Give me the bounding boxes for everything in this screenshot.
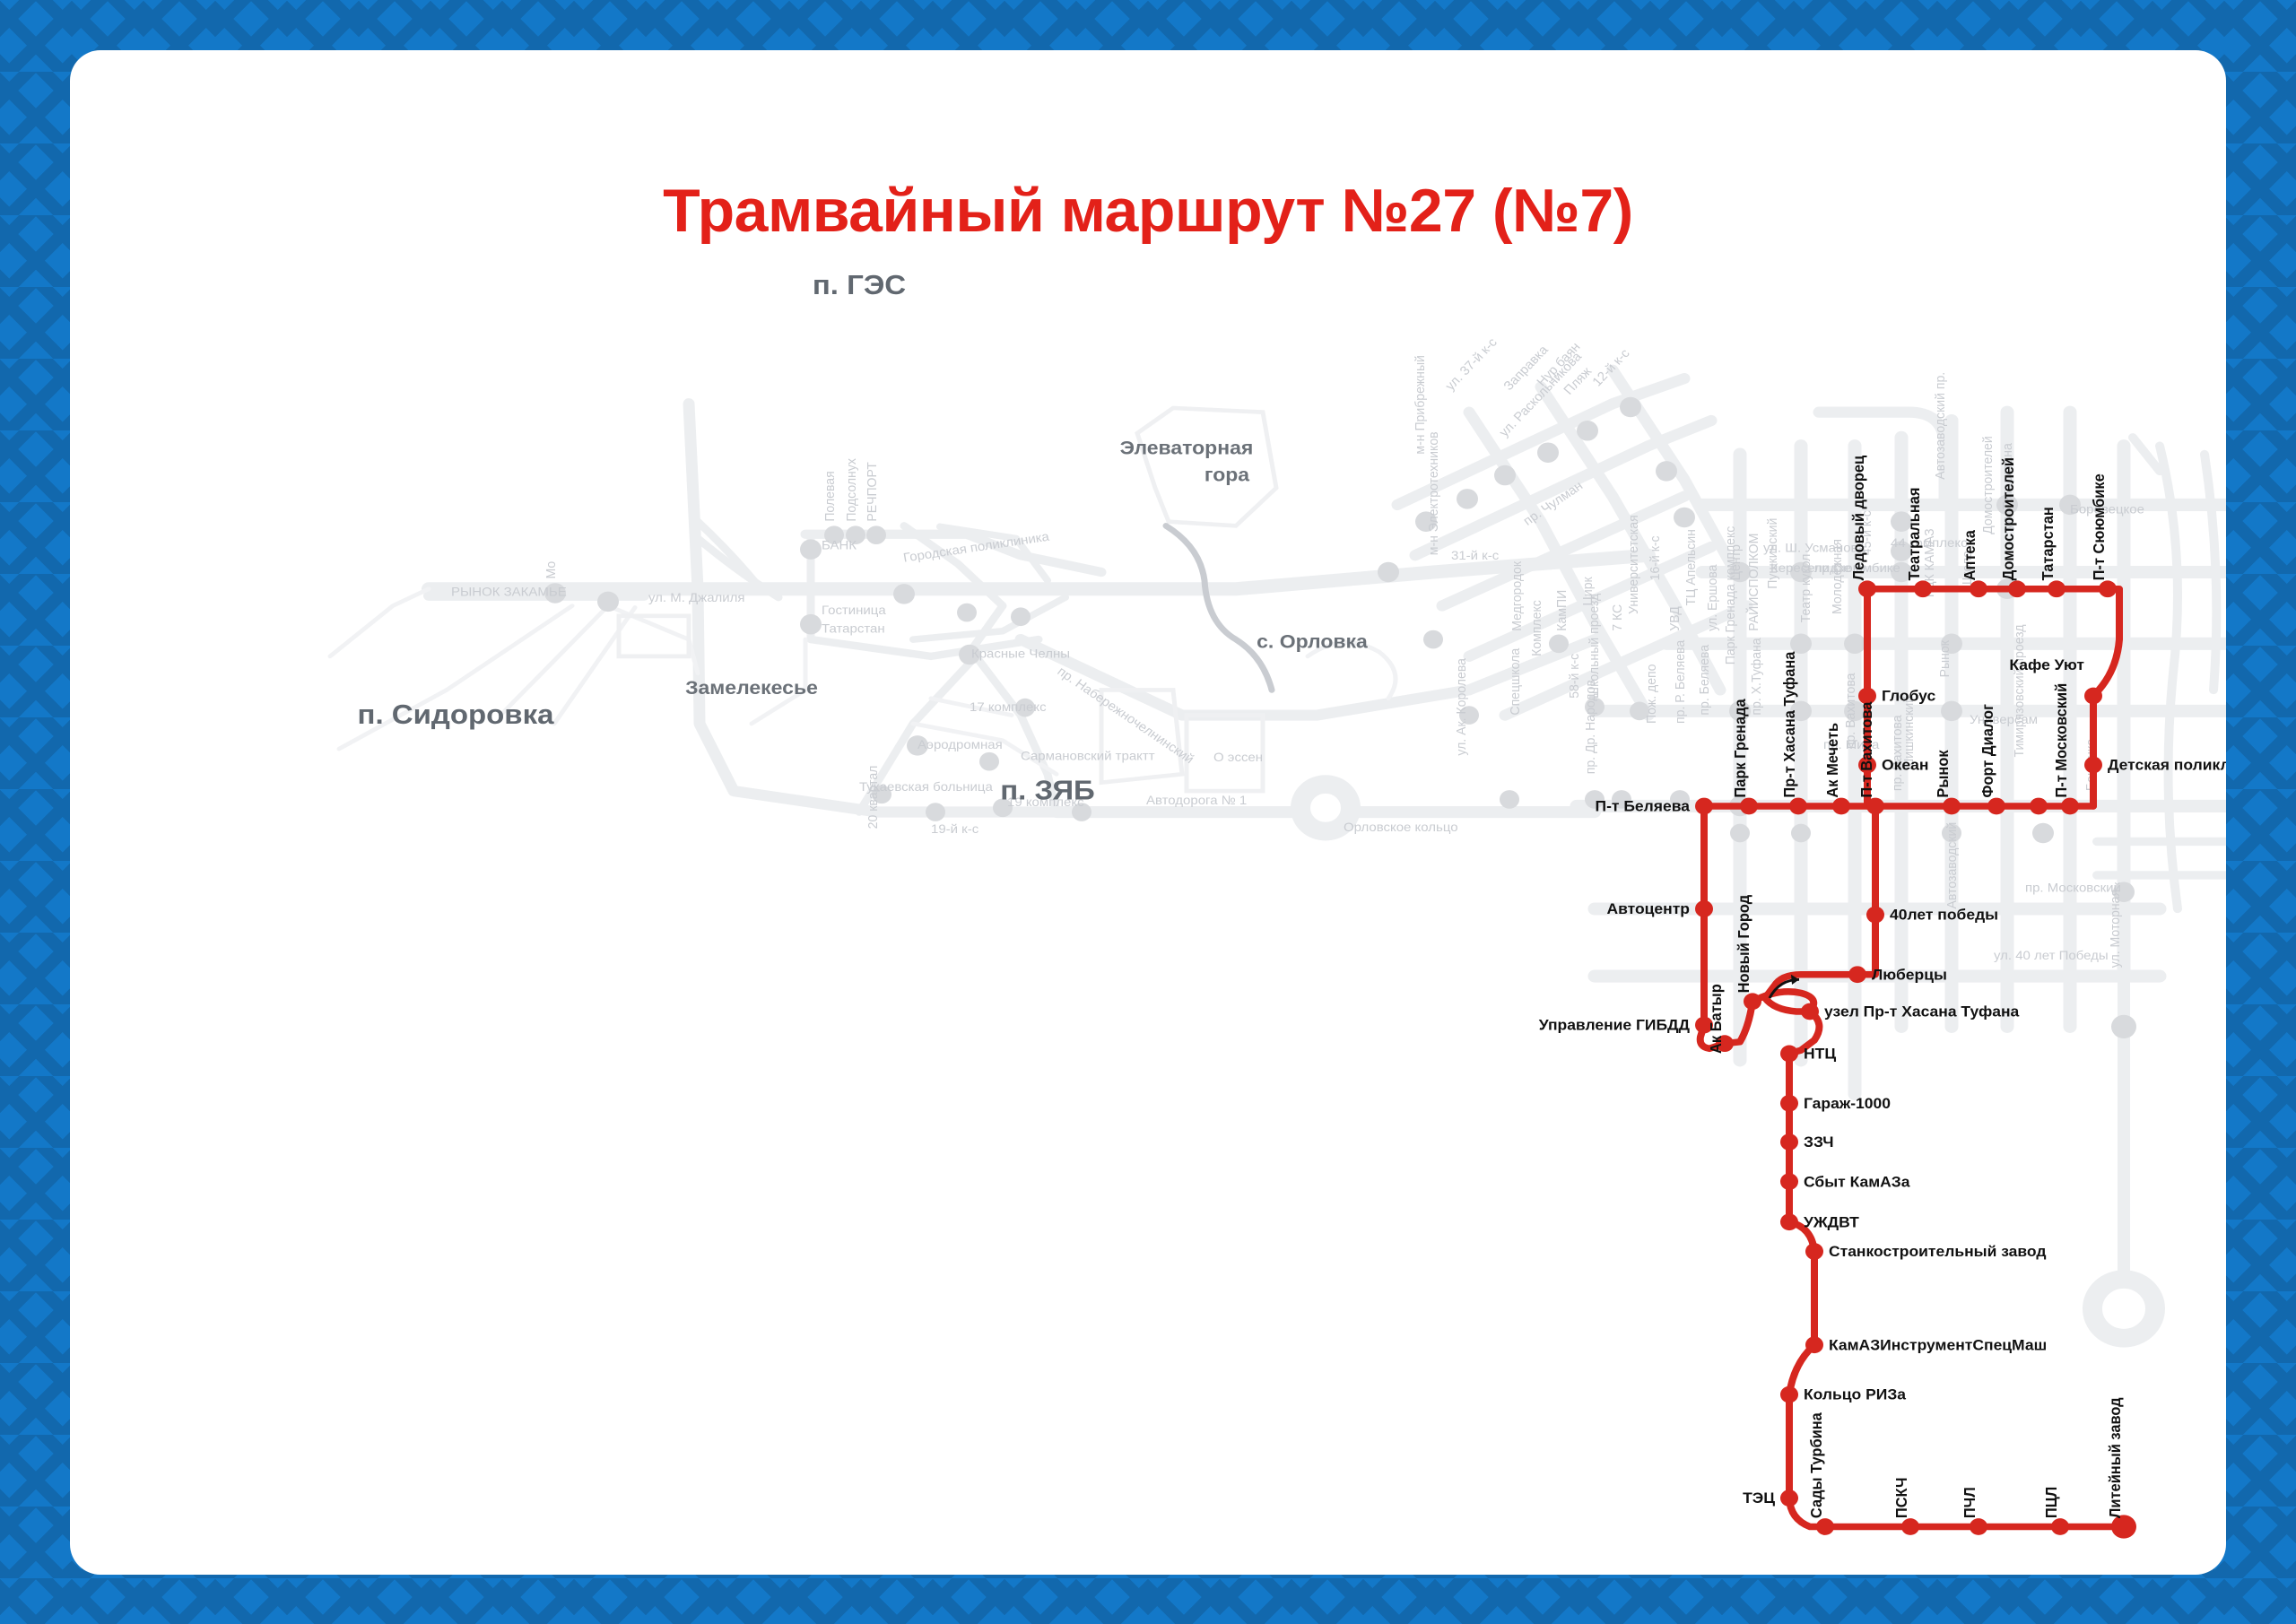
background-label: Комплекс bbox=[1530, 600, 1544, 656]
background-label: Молодёжная bbox=[1831, 539, 1845, 614]
tram-stop-label: Ледовый дворец bbox=[1850, 455, 1868, 580]
tram-stop-label: Ак Мечеть bbox=[1824, 723, 1842, 798]
tram-stop-label: Глобус bbox=[1882, 688, 1935, 704]
tram-stop-label: Ак Батыр bbox=[1708, 984, 1726, 1054]
background-label: РЕЧПОРТ bbox=[865, 462, 880, 522]
tram-stop-label: Аптека bbox=[1961, 530, 1979, 581]
background-label: м-н Электротехников bbox=[1427, 431, 1441, 555]
tram-stop-label: узел Пр-т Хасана Туфана bbox=[1824, 1003, 2020, 1020]
tram-stop-marker[interactable] bbox=[1848, 966, 1866, 983]
tram-stop-label: 40лет победы bbox=[1890, 907, 1998, 923]
district-label: с. Орловка bbox=[1257, 630, 1368, 652]
tram-stop-marker[interactable] bbox=[1901, 1518, 1919, 1535]
tram-stop-label: Рынок bbox=[1935, 750, 1952, 798]
background-label: пр. Вахитова bbox=[1844, 673, 1858, 749]
background-label: 7 КС bbox=[1611, 604, 1625, 631]
tram-stop-marker[interactable] bbox=[1780, 1095, 1798, 1112]
tram-stop-label: ПСКЧ bbox=[1893, 1477, 1911, 1518]
tram-stop-marker[interactable] bbox=[1858, 688, 1876, 705]
background-label: 17 комплекс bbox=[970, 700, 1047, 714]
background-label: пр. Р. Беляева bbox=[1674, 639, 1688, 724]
background-roads bbox=[330, 370, 2226, 1339]
background-label: Полевая bbox=[823, 471, 838, 521]
background-label: Парк Гренада комплекс bbox=[1724, 526, 1738, 665]
tram-stop-label: НТЦ bbox=[1804, 1046, 1837, 1062]
tram-stop-label: Новый Город bbox=[1735, 895, 1753, 994]
tram-stop-label: ТЭЦ bbox=[1743, 1490, 1776, 1507]
background-label: Театр кукол bbox=[1799, 554, 1813, 623]
tram-stop-label: Домостроителей bbox=[2000, 457, 2018, 580]
tram-stop-label: ЗЗЧ bbox=[1804, 1134, 1834, 1151]
background-label: Медгородок bbox=[1510, 560, 1525, 630]
district-label: Замелекесье bbox=[685, 677, 818, 699]
background-label: ул. 40 лет Победы bbox=[1994, 949, 2109, 962]
background-label: КамПИ bbox=[1555, 590, 1570, 631]
tram-stop-label: Кафе Уют bbox=[2009, 656, 2084, 673]
tram-stop-label: УЖДВТ bbox=[1804, 1214, 1859, 1230]
tram-stop-marker[interactable] bbox=[1801, 1003, 1819, 1020]
tram-stop-marker[interactable] bbox=[1805, 1243, 1823, 1260]
tram-stop-label: Управление ГИБДД bbox=[1539, 1017, 1690, 1033]
tram-stop-label: П-т Беляева bbox=[1596, 798, 1691, 814]
tram-stop-marker[interactable] bbox=[1789, 798, 1807, 815]
background-label: пр. Московский bbox=[2025, 881, 2121, 895]
background-label: Подсолнух bbox=[845, 457, 859, 521]
tram-stop-label: КамАЗИнструментСпецМаш bbox=[1829, 1337, 2047, 1353]
tram-stop-label: П-т Вахитова bbox=[1858, 701, 1876, 798]
background-label: Тимирязовский проезд bbox=[2013, 624, 2027, 757]
tram-stop-label: П-т Московский bbox=[2053, 683, 2071, 798]
background-label: ул. Ершова bbox=[1706, 564, 1720, 631]
map-card: Трамвайный маршрут №27 (№7) bbox=[70, 50, 2226, 1575]
tram-stop-marker[interactable] bbox=[2099, 580, 2117, 597]
background-label: Автозаводский пр. bbox=[1934, 372, 1948, 480]
tram-stop-marker[interactable] bbox=[1987, 798, 2005, 815]
tram-stop-marker[interactable] bbox=[1805, 1336, 1823, 1353]
background-label: Орловское кольцо bbox=[1344, 821, 1458, 835]
tram-stop-label: Татарстан bbox=[2039, 507, 2057, 580]
tram-stop-marker[interactable] bbox=[1816, 1518, 1834, 1535]
tram-stop-label: Станкостроительный завод bbox=[1829, 1244, 2047, 1260]
tram-stop-label: ПЦЛ bbox=[2043, 1487, 2061, 1518]
background-label: Мо bbox=[544, 561, 559, 579]
background-label: 20 квартал bbox=[866, 766, 881, 829]
background-label: ул. Ак. Королева bbox=[1455, 657, 1469, 755]
tram-stop-marker[interactable] bbox=[2084, 757, 2102, 774]
tram-stop-marker[interactable] bbox=[1943, 798, 1961, 815]
background-label: РЫНОК ЗАКАМЬЕ bbox=[451, 586, 567, 599]
background-label: Красные Челны bbox=[971, 647, 1070, 661]
tram-stop-marker[interactable] bbox=[2008, 580, 2026, 597]
tram-stop-label: Сбыт КамАЗа bbox=[1804, 1174, 1910, 1190]
background-label: Автодорога № 1 bbox=[1146, 794, 1247, 807]
tram-stop-marker[interactable] bbox=[1695, 798, 1713, 815]
tram-stop-marker[interactable] bbox=[1866, 907, 1884, 924]
background-label: ул. 37-й к-с bbox=[1443, 335, 1500, 393]
tram-stop-marker[interactable] bbox=[1858, 580, 1876, 597]
background-label: Рынок bbox=[1938, 639, 1952, 677]
tram-stop-label: Автоцентр bbox=[1606, 901, 1690, 917]
tram-stop-marker[interactable] bbox=[1744, 993, 1761, 1010]
background-label: Пож. депо bbox=[1645, 664, 1659, 723]
background-label: Автозаводский bbox=[1945, 822, 1960, 909]
tram-stop-marker[interactable] bbox=[1740, 798, 1758, 815]
tram-stop-marker[interactable] bbox=[1780, 1133, 1798, 1151]
background-label: ул. М. Джалиля bbox=[648, 591, 745, 604]
tram-stop-label: Детская поликлиника bbox=[2108, 757, 2226, 773]
background-label: БАНК bbox=[822, 539, 857, 552]
tram-stop-label: Гараж-1000 bbox=[1804, 1095, 1891, 1111]
background-label: 31-й к-с bbox=[1451, 549, 1499, 562]
tram-stop-label: Люберцы bbox=[1872, 967, 1947, 983]
tram-stop-label: Океан bbox=[1882, 757, 1928, 773]
tram-stop-marker[interactable] bbox=[1970, 580, 1987, 597]
background-label: Спецшкола bbox=[1509, 647, 1523, 716]
background-label: 16-й к-с bbox=[1648, 535, 1663, 580]
background-label: ТЦ Апельсин bbox=[1684, 529, 1699, 605]
tram-stop-marker[interactable] bbox=[1780, 1386, 1798, 1403]
district-label: гора bbox=[1205, 464, 1250, 485]
background-label: пр. Др. Народов bbox=[1584, 680, 1598, 775]
district-label: п. ГЭС bbox=[813, 269, 906, 300]
tram-stop-marker[interactable] bbox=[1970, 1518, 1987, 1535]
tram-stop-marker[interactable] bbox=[1695, 900, 1713, 917]
background-label: О эссен bbox=[1213, 751, 1263, 765]
background-label: 19-й к-с bbox=[931, 822, 978, 836]
tram-stop-marker[interactable] bbox=[2061, 798, 2079, 815]
background-label: УВД bbox=[1668, 606, 1683, 631]
background-label: Университетская bbox=[1627, 515, 1641, 614]
background-label: РАЙИСПОЛКОМ bbox=[1745, 534, 1762, 631]
tram-stop-marker[interactable] bbox=[1780, 1213, 1798, 1230]
tram-stop-label: Пр-т Хасана Туфана bbox=[1781, 651, 1799, 798]
tram-stop-marker[interactable] bbox=[2048, 580, 2066, 597]
background-label: Гостиница bbox=[822, 604, 887, 617]
tram-stop-label: Форт Диалог bbox=[1979, 704, 1997, 798]
tram-stop-label: Кольцо РИЗа bbox=[1804, 1386, 1907, 1403]
background-label: ул. Моторная bbox=[2109, 890, 2123, 968]
tram-stop-label: Литейный завод bbox=[2107, 1397, 2125, 1518]
tram-stop-label: Театральная bbox=[1906, 488, 1924, 581]
tram-stop-label: ПЧЛ bbox=[1961, 1487, 1979, 1518]
tram-stop-marker[interactable] bbox=[1780, 1173, 1798, 1190]
tram-stop-marker[interactable] bbox=[2030, 798, 2048, 815]
tram-stop-label: П-т Сююмбике bbox=[2091, 473, 2109, 580]
tram-stop-marker[interactable] bbox=[1780, 1489, 1798, 1507]
tram-stop-label: Сады Турбина bbox=[1808, 1412, 1826, 1518]
background-label: Пушкинский bbox=[1766, 518, 1780, 589]
tram-stop-marker[interactable] bbox=[2084, 688, 2102, 705]
background-label: 58-й к-с bbox=[1568, 654, 1582, 699]
tram-route-map: РЫНОК ЗАКАМЬЕМоул. М. ДжалиляБАНКПолевая… bbox=[70, 50, 2226, 1575]
tram-stop-marker[interactable] bbox=[1780, 1046, 1798, 1063]
background-label: Татарстан bbox=[822, 622, 885, 636]
tram-stop-marker[interactable] bbox=[1914, 580, 1932, 597]
background-label: Домостроителей bbox=[1981, 436, 1996, 534]
district-label: п. Сидоровка bbox=[358, 699, 554, 730]
background-label: Сармановский трактт bbox=[1021, 750, 1155, 763]
background-label: пр. Беляева bbox=[1698, 644, 1712, 716]
tram-stop-label: Парк Гренада bbox=[1732, 699, 1750, 798]
district-label: Элеваторная bbox=[1120, 437, 1254, 458]
tram-stop-marker[interactable] bbox=[2051, 1518, 2069, 1535]
tram-stop-marker[interactable] bbox=[1832, 798, 1850, 815]
district-label: п. ЗЯБ bbox=[1000, 774, 1095, 805]
background-label: пр. Х.Туфана bbox=[1750, 637, 1764, 715]
background-label: Аэродромная bbox=[918, 739, 1003, 752]
tram-stop-marker[interactable] bbox=[1866, 798, 1884, 815]
